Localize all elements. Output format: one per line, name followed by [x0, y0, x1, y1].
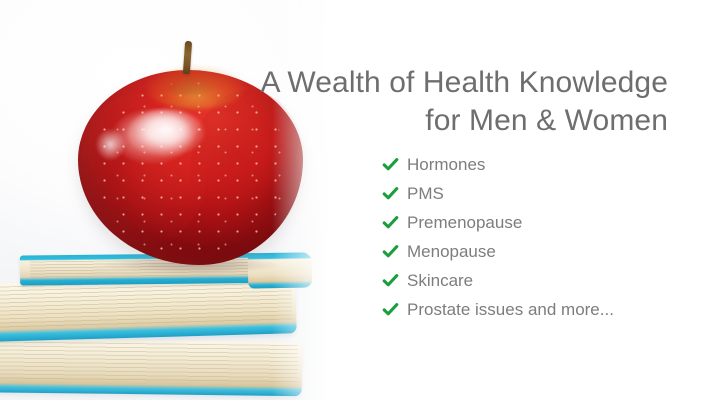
list-item: Menopause [382, 237, 614, 266]
photo-fade-to-white [272, 0, 340, 400]
list-item-label: PMS [407, 184, 444, 204]
page-edges [0, 341, 298, 385]
list-item: PMS [382, 179, 614, 208]
list-item-label: Prostate issues and more... [407, 300, 614, 320]
book-bottom [0, 338, 302, 396]
check-icon [382, 214, 399, 231]
check-icon [382, 243, 399, 260]
health-knowledge-banner: A Wealth of Health Knowledge for Men & W… [0, 0, 726, 400]
list-item-label: Menopause [407, 242, 496, 262]
headline-line-2: for Men & Women [198, 102, 668, 140]
list-item: Hormones [382, 150, 614, 179]
check-icon [382, 301, 399, 318]
list-item: Skincare [382, 266, 614, 295]
check-icon [382, 272, 399, 289]
check-icon [382, 185, 399, 202]
headline-line-1: A Wealth of Health Knowledge [198, 64, 668, 102]
banner-headline: A Wealth of Health Knowledge for Men & W… [198, 64, 668, 140]
apple-highlight-secondary [96, 129, 125, 160]
list-item-label: Skincare [407, 271, 473, 291]
check-icon [382, 156, 399, 173]
list-item: Premenopause [382, 208, 614, 237]
benefits-checklist: Hormones PMS Premenopause [382, 150, 614, 324]
list-item: Prostate issues and more... [382, 295, 614, 324]
banner-photo [0, 0, 340, 400]
list-item-label: Hormones [407, 155, 485, 175]
page-edges [0, 278, 292, 331]
list-item-label: Premenopause [407, 213, 522, 233]
apple-highlight [128, 109, 205, 156]
